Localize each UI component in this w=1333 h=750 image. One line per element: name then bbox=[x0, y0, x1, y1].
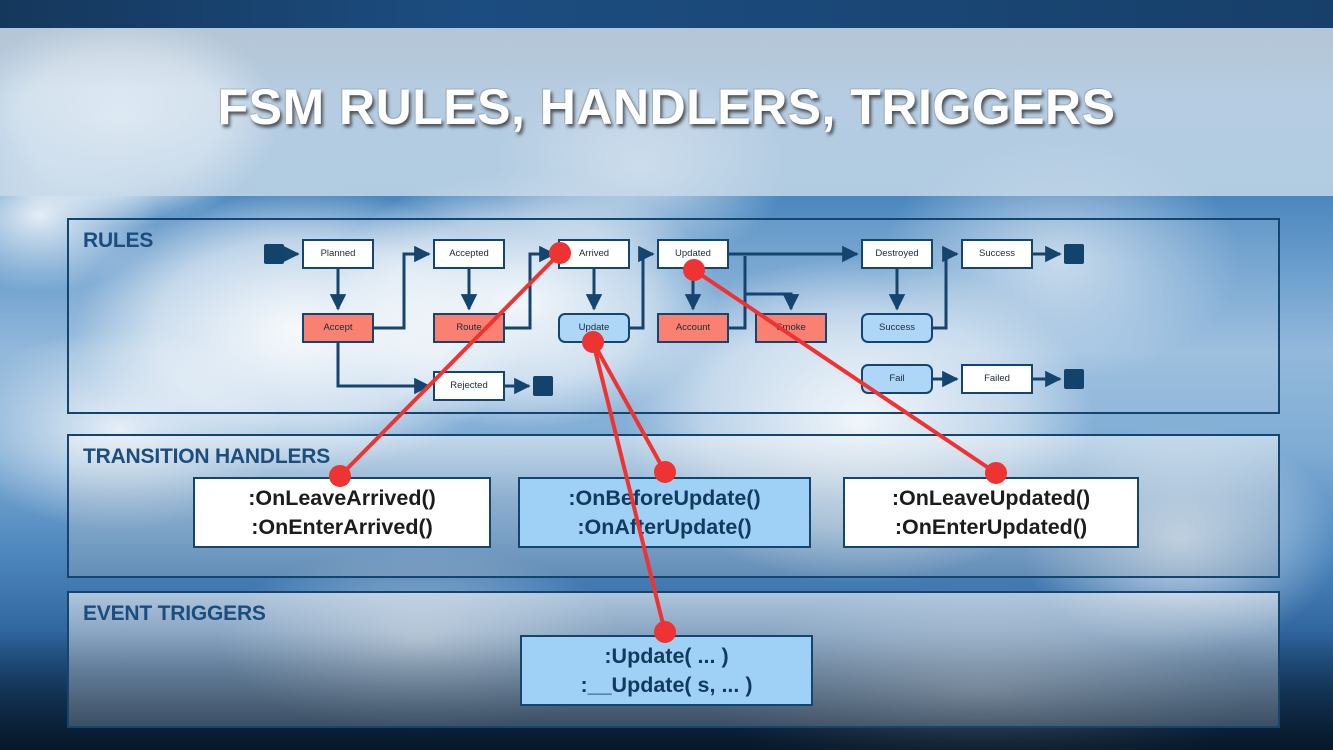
fsm-node-label: Success bbox=[979, 249, 1015, 259]
fsm-node-label: Account bbox=[676, 323, 710, 333]
fsm-node-label: Destroyed bbox=[875, 249, 918, 259]
fsm-node-accepted: Accepted bbox=[433, 239, 505, 269]
fsm-node-updated: Updated bbox=[657, 239, 729, 269]
fsm-node-label: Smoke bbox=[776, 323, 806, 333]
handler-box-arrived: :OnLeaveArrived() :OnEnterArrived() bbox=[193, 477, 491, 548]
handler-box-updated: :OnLeaveUpdated() :OnEnterUpdated() bbox=[843, 477, 1139, 548]
fsm-node-route: Route bbox=[433, 313, 505, 343]
fsm-node-label: Updated bbox=[675, 249, 711, 259]
fsm-node-rejected: Rejected bbox=[433, 371, 505, 401]
event-triggers-panel-label: EVENT TRIGGERS bbox=[83, 602, 266, 626]
fsm-node-success-state: Success bbox=[961, 239, 1033, 269]
page-title: FSM RULES, HANDLERS, TRIGGERS bbox=[0, 78, 1333, 136]
fsm-node-start-1 bbox=[264, 244, 284, 264]
slide-canvas: FSM RULES, HANDLERS, TRIGGERS RULES TRAN… bbox=[0, 0, 1333, 750]
trigger-line-2: :__Update( s, ... ) bbox=[580, 671, 752, 699]
fsm-node-arrived: Arrived bbox=[558, 239, 630, 269]
handler-line-2: :OnEnterArrived() bbox=[251, 513, 433, 541]
handler-line-2: :OnEnterUpdated() bbox=[895, 513, 1087, 541]
handler-line-1: :OnLeaveArrived() bbox=[248, 484, 436, 512]
trigger-line-1: :Update( ... ) bbox=[604, 642, 728, 670]
handler-box-update: :OnBeforeUpdate() :OnAfterUpdate() bbox=[518, 477, 811, 548]
handler-line-1: :OnBeforeUpdate() bbox=[568, 484, 760, 512]
fsm-node-planned: Planned bbox=[302, 239, 374, 269]
fsm-node-destroyed: Destroyed bbox=[861, 239, 933, 269]
fsm-node-label: Route bbox=[456, 323, 481, 333]
fsm-node-end-2 bbox=[1064, 244, 1084, 264]
fsm-node-fail-event: Fail bbox=[861, 364, 933, 394]
trigger-box-update: :Update( ... ) :__Update( s, ... ) bbox=[520, 635, 813, 706]
fsm-node-accept: Accept bbox=[302, 313, 374, 343]
fsm-node-label: Planned bbox=[321, 249, 356, 259]
top-accent-bar bbox=[0, 0, 1333, 28]
fsm-node-label: Failed bbox=[984, 374, 1010, 384]
fsm-node-label: Arrived bbox=[579, 249, 609, 259]
fsm-node-smoke: Smoke bbox=[755, 313, 827, 343]
fsm-node-account: Account bbox=[657, 313, 729, 343]
rules-panel-label: RULES bbox=[83, 229, 153, 253]
fsm-node-label: Rejected bbox=[450, 381, 488, 391]
handler-line-2: :OnAfterUpdate() bbox=[577, 513, 751, 541]
handler-line-1: :OnLeaveUpdated() bbox=[892, 484, 1090, 512]
fsm-node-label: Success bbox=[879, 323, 915, 333]
fsm-node-label: Accepted bbox=[449, 249, 489, 259]
fsm-node-end-1 bbox=[533, 376, 553, 396]
fsm-node-update: Update bbox=[558, 313, 630, 343]
fsm-node-success-event: Success bbox=[861, 313, 933, 343]
fsm-node-label: Accept bbox=[323, 323, 352, 333]
fsm-node-label: Fail bbox=[889, 374, 904, 384]
fsm-node-label: Update bbox=[579, 323, 610, 333]
fsm-node-end-3 bbox=[1064, 369, 1084, 389]
transition-handlers-panel-label: TRANSITION HANDLERS bbox=[83, 445, 330, 469]
fsm-node-failed-state: Failed bbox=[961, 364, 1033, 394]
